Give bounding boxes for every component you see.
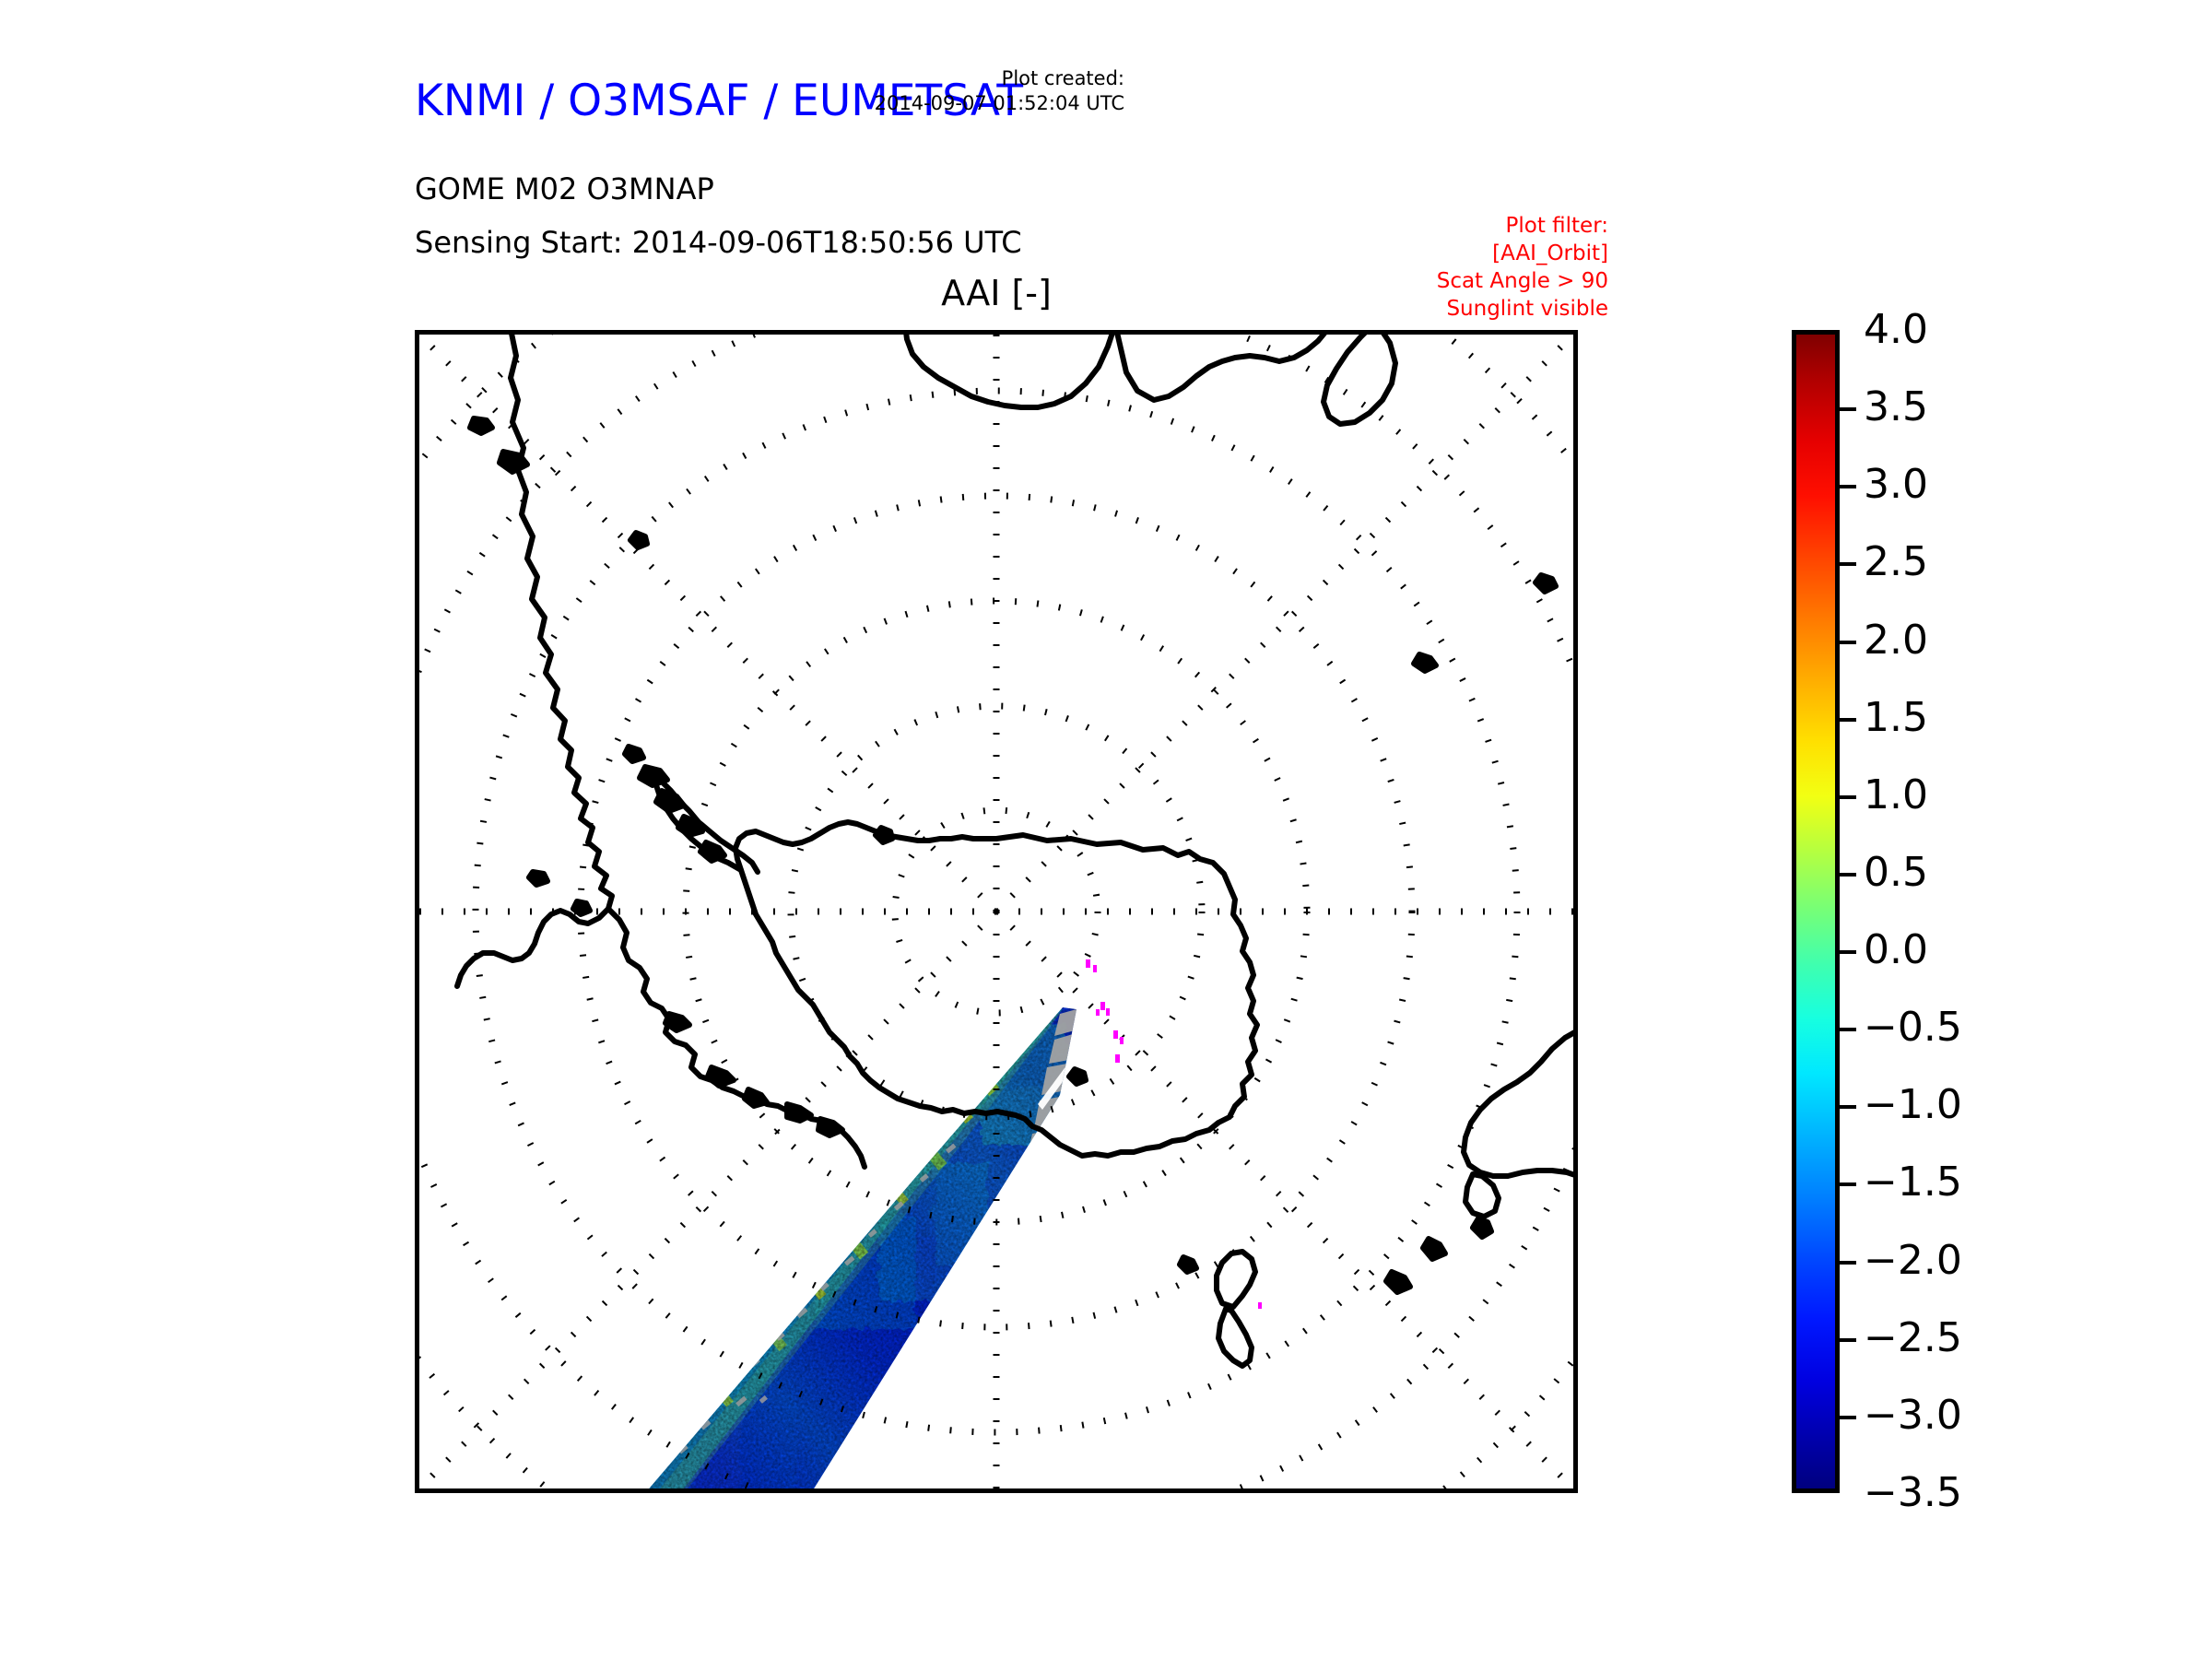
colorbar-tick-label: 3.5 [1864,387,1928,428]
colorbar-tick-mark [1840,718,1856,722]
colorbar-tick-label: −3.0 [1864,1395,1962,1436]
colorbar-tick-label: 2.5 [1864,542,1928,582]
colorbar-tick-label: −0.5 [1864,1007,1962,1048]
colorbar-gradient [1792,330,1840,1493]
colorbar-tick-label: 4.0 [1864,310,1928,350]
colorbar-tick-mark [1840,485,1856,488]
colorbar-tick-mark [1840,1182,1856,1186]
colorbar-tick-label: −3.5 [1864,1473,1962,1513]
colorbar-tick-label: 1.5 [1864,698,1928,738]
colorbar-tick-label: −1.0 [1864,1085,1962,1125]
plot-created-block: Plot created: 2014-09-07 01:52:04 UTC [875,66,1124,116]
colorbar-tick-mark [1840,1338,1856,1342]
colorbar-tick-label: 3.0 [1864,465,1928,505]
plot-created-value: 2014-09-07 01:52:04 UTC [875,91,1124,116]
colorbar-tick-label: 0.5 [1864,853,1928,893]
colorbar-tick-label: 2.0 [1864,620,1928,661]
colorbar-tick-label: −2.0 [1864,1241,1962,1281]
colorbar-tick-mark [1840,1416,1856,1419]
colorbar-tick-mark [1840,641,1856,644]
colorbar-tick-label: 1.0 [1864,775,1928,816]
colorbar-tick-label: −2.5 [1864,1318,1962,1359]
dataset-instrument-line: GOME M02 O3MNAP [415,171,714,206]
colorbar-tick-mark [1840,1105,1856,1109]
colorbar-tick-list: 4.03.53.02.52.01.51.00.50.0−0.5−1.0−1.5−… [1840,330,2052,1493]
plot-filter-line-1: [AAI_Orbit] [1437,241,1608,268]
page-title: AAI [-] [415,273,1578,313]
colorbar-tick-mark [1840,1028,1856,1031]
dataset-sensing-line: Sensing Start: 2014-09-06T18:50:56 UTC [415,225,1022,260]
colorbar-tick-mark [1840,1261,1856,1265]
colorbar-tick-mark [1840,562,1856,566]
colorbar-tick-label: −1.5 [1864,1162,1962,1203]
colorbar[interactable]: 4.03.53.02.52.01.51.00.50.0−0.5−1.0−1.5−… [1792,330,1840,1493]
colorbar-tick-mark [1840,950,1856,954]
plot-created-label: Plot created: [875,66,1124,91]
plot-filter-title: Plot filter: [1437,213,1608,241]
colorbar-tick-mark [1840,795,1856,799]
map-plot-area[interactable] [415,330,1578,1493]
colorbar-tick-label: 0.0 [1864,930,1928,971]
colorbar-tick-mark [1840,873,1856,877]
colorbar-tick-mark [1840,407,1856,411]
